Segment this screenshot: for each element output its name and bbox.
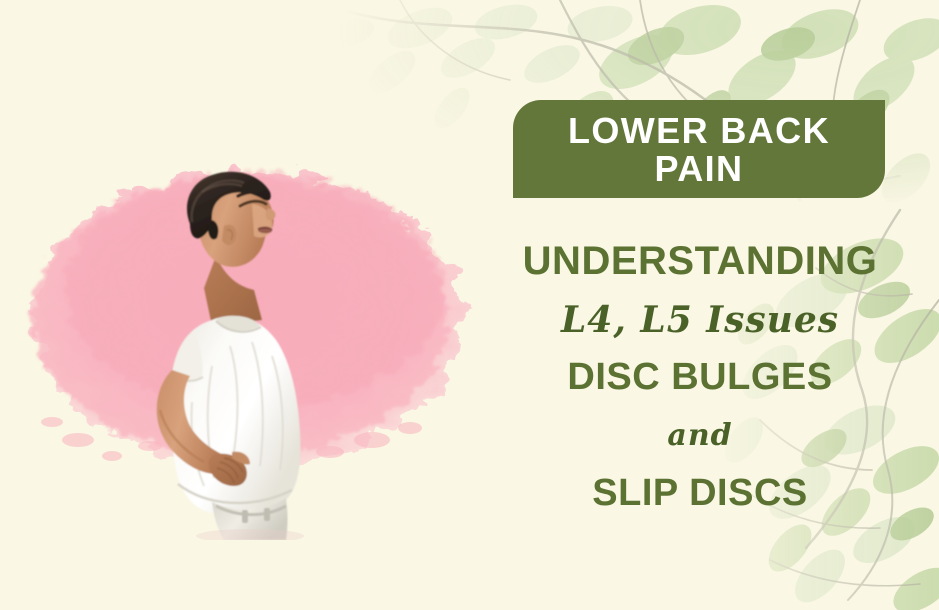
script-l4-l5-issues: L4, L5 Issues (490, 298, 910, 342)
headline-stack: UNDERSTANDING L4, L5 Issues DISC BULGES … (490, 238, 910, 516)
headline-understanding: UNDERSTANDING (490, 238, 910, 284)
title-plate: LOWER BACK PAIN (513, 100, 885, 198)
title-plate-line-2: PAIN (655, 150, 744, 188)
lower-back-pain-banner: LOWER BACK PAIN UNDERSTANDING L4, L5 Iss… (0, 0, 939, 610)
title-plate-line-1: LOWER BACK (568, 112, 830, 150)
hero-photo-area (0, 140, 490, 540)
script-and: and (490, 414, 910, 458)
man-with-back-pain-photo (120, 170, 350, 540)
headline-slip-discs: SLIP DISCS (490, 470, 910, 516)
headline-disc-bulges: DISC BULGES (490, 354, 910, 400)
